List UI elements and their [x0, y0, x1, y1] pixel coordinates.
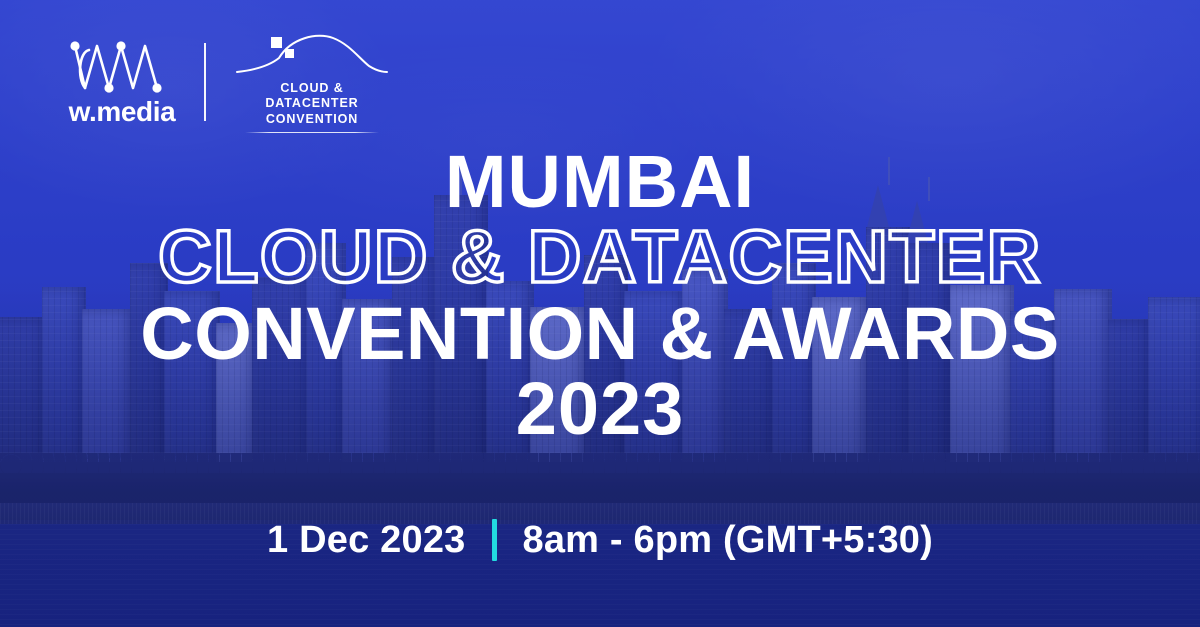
event-banner: w.media CLOUD & DATACENTER CONVENTION MU…: [0, 0, 1200, 627]
headline-city: MUMBAI: [0, 146, 1200, 217]
logo-lockup: w.media CLOUD & DATACENTER CONVENTION: [66, 30, 392, 133]
headline-convention-awards: CONVENTION & AWARDS: [0, 298, 1200, 369]
cloud-arch-icon: [233, 30, 391, 78]
event-datetime: 1 Dec 2023 8am - 6pm (GMT+5:30): [0, 519, 1200, 561]
wmedia-logo: w.media: [66, 38, 178, 126]
cdc-logo-text: CLOUD & DATACENTER CONVENTION: [232, 81, 392, 127]
zigzag-wave-icon: [67, 38, 177, 94]
event-time: 8am - 6pm (GMT+5:30): [523, 521, 934, 559]
wmedia-wordmark: w.media: [69, 98, 176, 126]
cdc-logo-rule: [245, 132, 379, 134]
headline-year: 2023: [0, 373, 1200, 444]
cdc-logo-line1: CLOUD & DATACENTER: [232, 81, 392, 112]
logo-divider: [204, 43, 206, 121]
event-headline: MUMBAI CLOUD & DATACENTER CONVENTION & A…: [0, 146, 1200, 444]
datetime-separator: [492, 519, 497, 561]
cdc-logo: CLOUD & DATACENTER CONVENTION: [232, 30, 392, 133]
event-date: 1 Dec 2023: [267, 521, 466, 559]
cdc-logo-line2: CONVENTION: [232, 112, 392, 127]
headline-cloud-datacenter: CLOUD & DATACENTER: [0, 221, 1200, 292]
